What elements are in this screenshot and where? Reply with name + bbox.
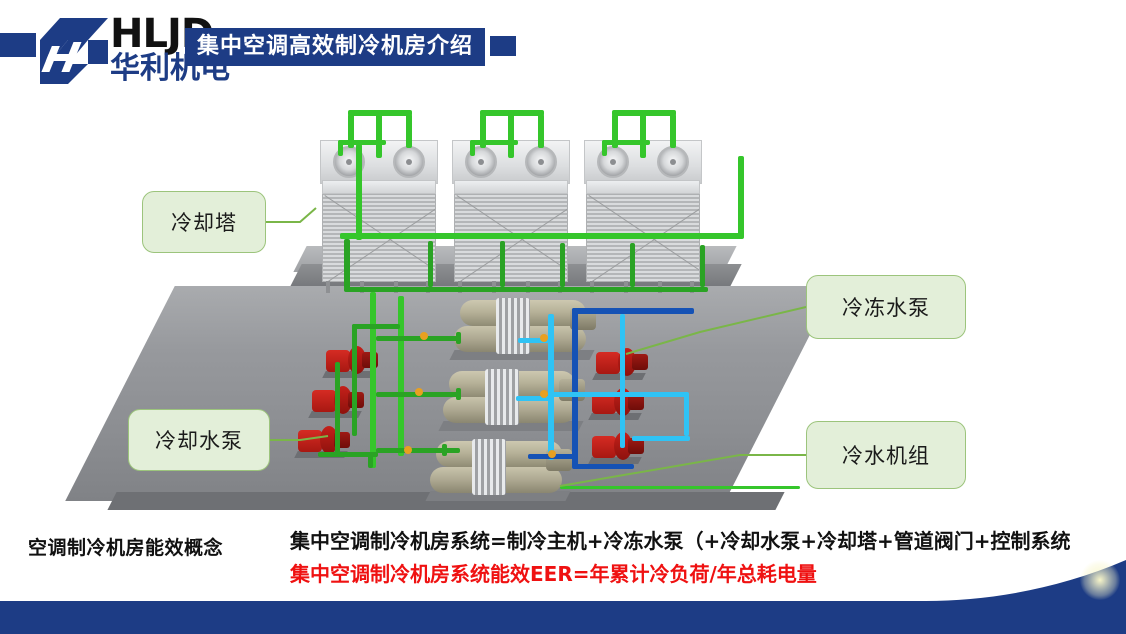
tower-drop-leg (344, 239, 350, 289)
chiller-callout-leader-pipe (560, 486, 800, 489)
tower-branch-pipe (602, 140, 607, 156)
hljd-hexagon-h-logo-icon (38, 16, 110, 86)
chiller-compressor (472, 439, 506, 495)
chiller-unit-2 (441, 371, 589, 433)
tower-drop-leg (700, 245, 705, 287)
tower-branch-pipe (338, 140, 343, 156)
cooling-water-to-chiller (456, 388, 461, 400)
slide-title-banner: 集中空调高效制冷机房介绍 (185, 28, 485, 66)
callout-chiller-unit[interactable]: 冷水机组 (806, 421, 966, 489)
system-eer-equation: 集中空调制冷机房系统能效EER=年累计冷负荷/年总耗电量 (290, 558, 817, 587)
cooling-tower-unit-1 (320, 140, 438, 290)
tower-drop-leg (560, 243, 565, 287)
system-composition-equation: 集中空调制冷机房系统=制冷主机+冷冻水泵（+冷却水泵+冷却塔+管道阀门+控制系统 (290, 525, 1071, 554)
tower-riser-pipe (406, 114, 412, 148)
callout-label-chiller-unit: 冷水机组 (842, 440, 930, 470)
tower-branch-pipe (338, 140, 386, 145)
callout-cooling-water-pump[interactable]: 冷却水泵 (128, 409, 270, 471)
callout-label-chilled-water-pump: 冷冻水泵 (842, 292, 930, 322)
cooling-water-to-chiller (376, 448, 460, 453)
chilled-water-branch (632, 436, 690, 441)
tower-riser-pipe (538, 114, 544, 148)
chilled-water-return-branch (572, 464, 634, 469)
cooling-water-pump-header (368, 454, 373, 468)
cooling-tower-unit-3 (584, 140, 702, 290)
tower-fan-icon (657, 146, 689, 178)
machine-room-3d-diagram: 冷却塔 冷却水泵 冷冻水泵 冷水机组 (0, 96, 1126, 514)
tower-drop-pipe (508, 112, 514, 158)
tower-upper-casing (322, 180, 436, 194)
tower-drop-pipe (640, 112, 646, 158)
cooling-water-branch (352, 324, 400, 329)
tower-riser-pipe (670, 114, 676, 148)
pump-motor (596, 352, 620, 374)
concept-label: 空调制冷机房能效概念 (28, 533, 223, 560)
cooling-water-branch (352, 324, 357, 436)
header-left-dash (0, 33, 36, 57)
valve-icon (548, 450, 556, 458)
tower-downcomer-pipe (356, 144, 362, 240)
tower-upper-casing (586, 180, 700, 194)
company-logo: HLJD 华利机电 (38, 10, 188, 88)
pump-motor (592, 436, 616, 458)
pump-motor (312, 390, 336, 412)
pump-base (588, 413, 642, 420)
chiller-compressor (485, 369, 519, 425)
chilled-water-riser (548, 314, 554, 460)
chilled-water-return-riser (572, 308, 578, 468)
cooling-tower-unit-2 (452, 140, 570, 290)
tower-drop-leg (500, 241, 505, 287)
pump-motor (298, 430, 322, 452)
cooling-water-to-chiller (456, 332, 461, 344)
page-title: 集中空调高效制冷机房介绍 (197, 28, 473, 66)
title-banner-tab (490, 36, 516, 56)
callout-chilled-water-pump[interactable]: 冷冻水泵 (806, 275, 966, 339)
pump-base (322, 371, 376, 378)
cooling-water-main-riser (370, 292, 376, 468)
callout-label-cooling-water-pump: 冷却水泵 (155, 425, 243, 455)
valve-icon (540, 390, 548, 398)
tower-branch-pipe (470, 140, 518, 145)
cooling-water-to-chiller (442, 444, 447, 456)
valve-icon (415, 388, 423, 396)
platform-under-pipe (344, 287, 708, 292)
pump-base (592, 373, 646, 380)
callout-label-cooling-tower: 冷却塔 (171, 207, 237, 237)
tower-collector-pipe (340, 233, 744, 239)
tower-branch-pipe (602, 140, 650, 145)
chilled-water-cross-header (684, 392, 689, 436)
valve-icon (420, 332, 428, 340)
chilled-water-cross-header (552, 392, 688, 397)
chilled-water-return-header (572, 308, 694, 314)
pump-base (588, 457, 642, 464)
valve-icon (404, 446, 412, 454)
callout-cooling-tower[interactable]: 冷却塔 (142, 191, 266, 253)
cooling-water-pump-header (335, 362, 340, 454)
tower-fan-icon (393, 146, 425, 178)
cooling-water-main-riser (398, 296, 404, 456)
pump-flange (632, 354, 648, 370)
tower-drop-leg (428, 241, 433, 287)
cooling-water-to-chiller (376, 336, 460, 341)
tower-branch-pipe (470, 140, 475, 156)
slide-header: HLJD 华利机电 集中空调高效制冷机房介绍 (0, 0, 1126, 96)
valve-icon (540, 334, 548, 342)
tower-drop-leg (630, 243, 635, 287)
tower-fan-icon (525, 146, 557, 178)
tower-upper-casing (454, 180, 568, 194)
tower-downcomer-pipe (738, 156, 744, 238)
chilled-water-supply-header (620, 314, 625, 448)
tower-drop-pipe (376, 112, 382, 158)
footer-glow-decoration (1080, 560, 1120, 600)
slide-root: HLJD 华利机电 集中空调高效制冷机房介绍 (0, 0, 1126, 634)
chiller-compressor (496, 298, 530, 354)
